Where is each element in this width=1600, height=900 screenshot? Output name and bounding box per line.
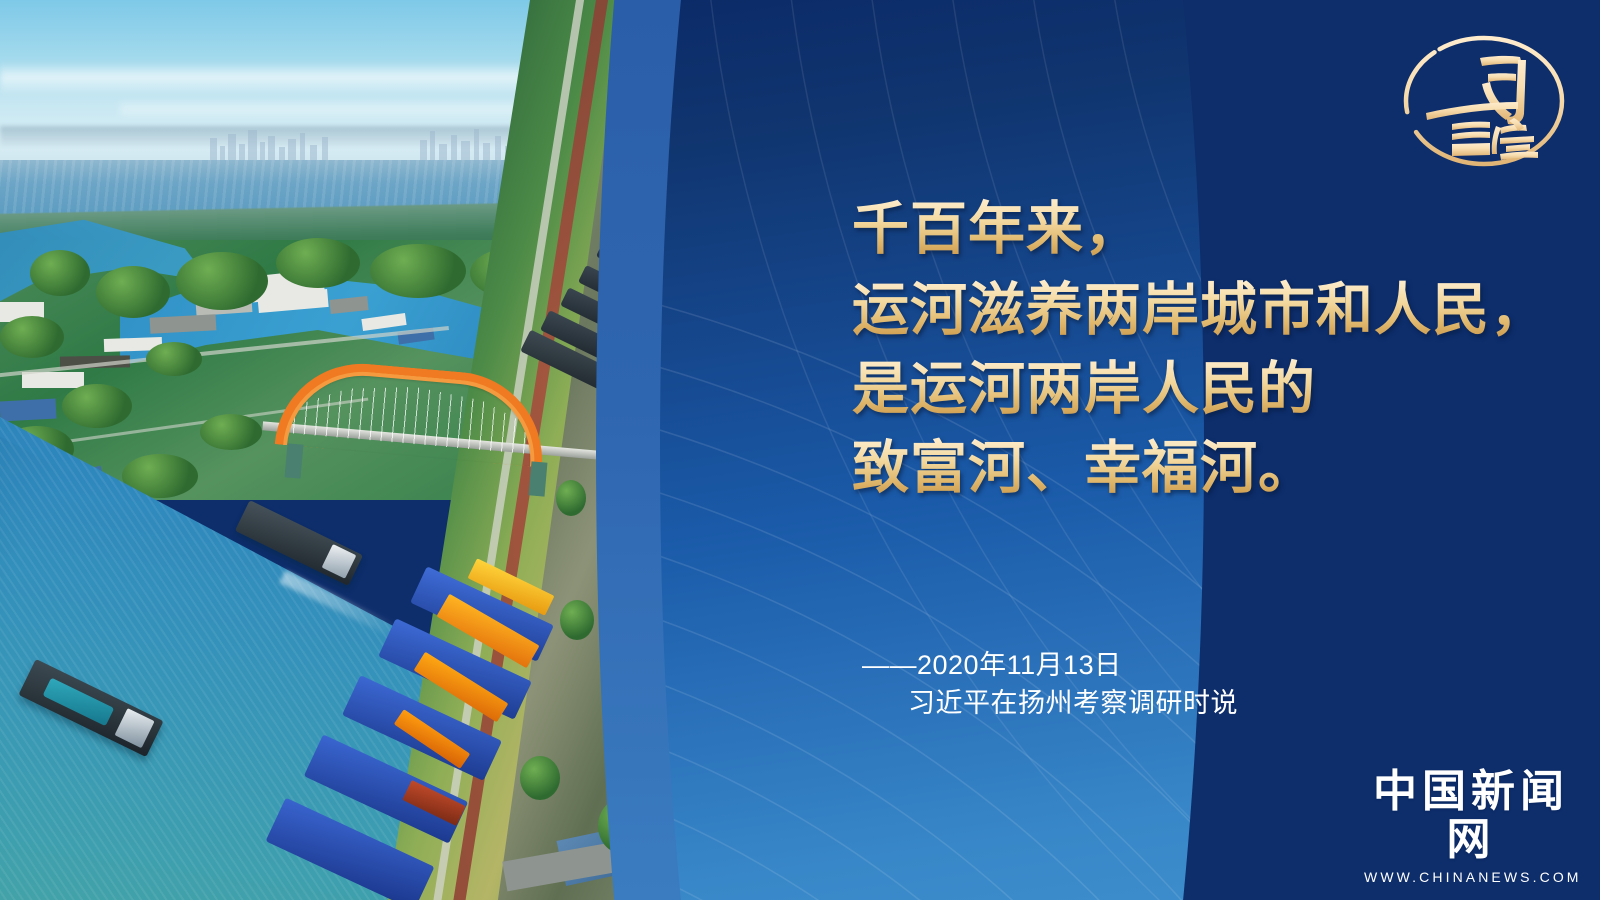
brand-url: WWW.CHINANEWS.COM <box>1364 869 1578 885</box>
xi-yan-dao-seal-logo[interactable] <box>1396 30 1572 172</box>
quote-line-3: 是运河两岸人民的 <box>852 352 1572 427</box>
quote-line-4: 致富河、幸福河。 <box>852 431 1572 506</box>
brand-name: 中国新闻网 <box>1364 768 1578 864</box>
attribution-date: ——2020年11月13日 <box>862 646 1238 684</box>
poster-root: 千百年来， 运河滋养两岸城市和人民， 是运河两岸人民的 致富河、幸福河。 ——2… <box>0 0 1600 900</box>
quote-block: 千百年来， 运河滋养两岸城市和人民， 是运河两岸人民的 致富河、幸福河。 <box>852 192 1572 506</box>
quote-line-2: 运河滋养两岸城市和人民， <box>852 273 1572 348</box>
seal-glyph-xi <box>1480 56 1526 125</box>
quote-line-1: 千百年来， <box>852 192 1572 267</box>
seal-glyph-dao <box>1492 118 1538 160</box>
chinanews-brand[interactable]: 中国新闻网 WWW.CHINANEWS.COM <box>1364 768 1578 885</box>
attribution-block: ——2020年11月13日 习近平在扬州考察调研时说 <box>862 646 1238 722</box>
attribution-source: 习近平在扬州考察调研时说 <box>862 684 1238 722</box>
